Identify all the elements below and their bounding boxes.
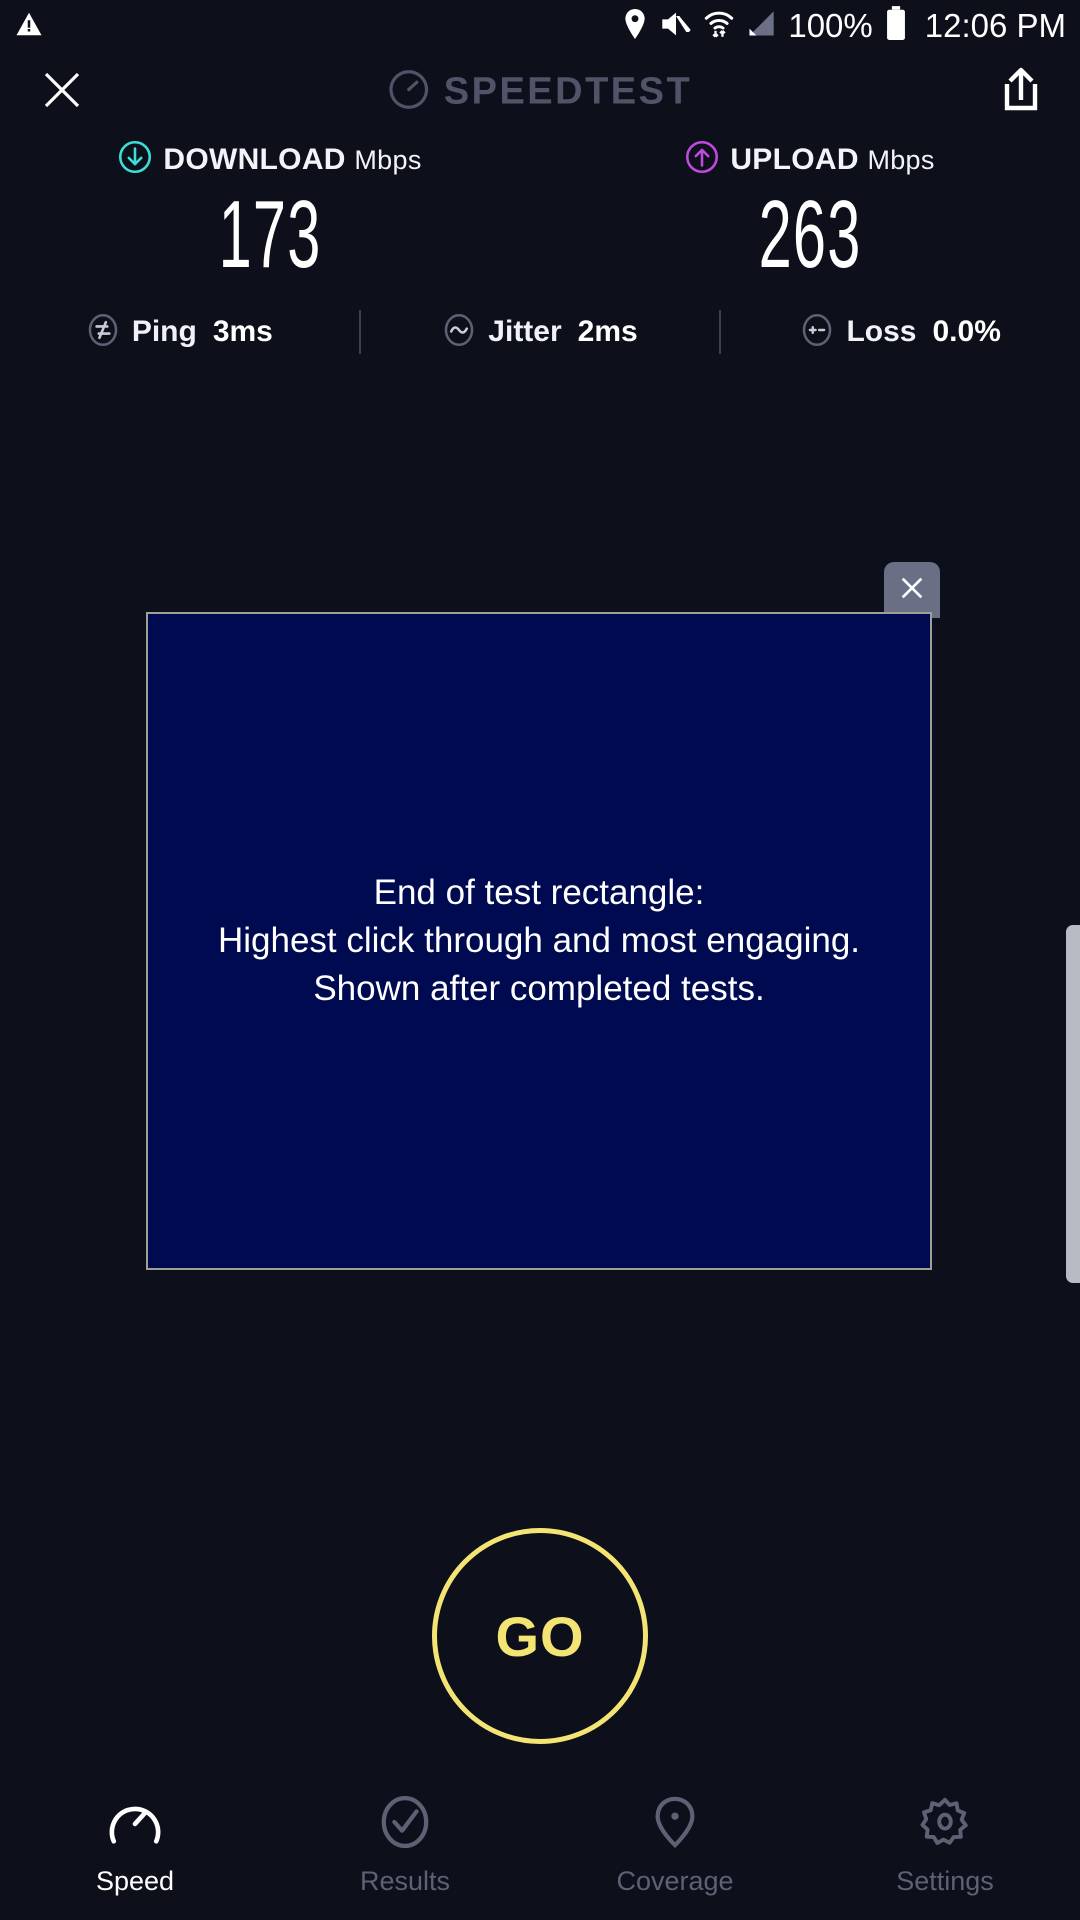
nav-item-settings[interactable]: Settings	[810, 1770, 1080, 1920]
share-button[interactable]	[996, 64, 1046, 120]
advertisement-banner[interactable]: End of test rectangle: Highest click thr…	[146, 612, 932, 1270]
nav-item-speed[interactable]: Speed	[0, 1770, 270, 1920]
ping-icon	[86, 313, 120, 352]
metric-jitter: Jitter 2ms	[361, 313, 720, 352]
app-header: SPEEDTEST	[0, 56, 1080, 128]
battery-full-icon	[885, 6, 907, 47]
speedometer-icon	[108, 1794, 162, 1850]
download-label: DOWNLOAD Mbps	[163, 143, 421, 177]
go-button-label: GO	[495, 1604, 584, 1669]
metrics-row: Ping 3ms Jitter 2ms Loss	[0, 302, 1080, 362]
close-icon	[38, 66, 86, 119]
close-icon	[896, 572, 928, 609]
battery-percent-label: 100%	[788, 7, 872, 45]
nav-label-coverage: Coverage	[616, 1866, 733, 1897]
upload-label: UPLOAD Mbps	[730, 143, 934, 177]
download-result: DOWNLOAD Mbps 173	[0, 140, 540, 283]
nav-item-coverage[interactable]: Coverage	[540, 1770, 810, 1920]
nav-label-settings: Settings	[896, 1866, 994, 1897]
wifi-icon	[704, 9, 734, 44]
location-pin-icon	[622, 9, 648, 44]
status-bar-right: 100% 12:06 PM	[622, 6, 1066, 47]
ad-close-button[interactable]	[884, 562, 940, 618]
brand-logo: SPEEDTEST	[388, 69, 692, 116]
loss-label: Loss	[846, 315, 916, 349]
speedometer-icon	[388, 69, 430, 116]
status-bar-left	[14, 9, 44, 44]
jitter-icon	[442, 313, 476, 352]
loss-icon	[800, 313, 834, 352]
close-button[interactable]	[34, 64, 90, 120]
download-value: 173	[218, 187, 321, 283]
ad-line-3: Shown after completed tests.	[218, 965, 860, 1013]
download-arrow-icon	[118, 140, 152, 179]
jitter-label: Jitter	[488, 315, 561, 349]
share-icon	[999, 66, 1043, 119]
location-pin-icon	[648, 1794, 702, 1850]
jitter-value: 2ms	[578, 315, 638, 349]
ad-text: End of test rectangle: Highest click thr…	[218, 869, 860, 1014]
speedtest-app-screen: 100% 12:06 PM SPEEDTEST	[0, 0, 1080, 1920]
ping-label: Ping	[132, 315, 197, 349]
brand-name: SPEEDTEST	[444, 71, 692, 114]
ping-value: 3ms	[213, 315, 273, 349]
status-bar: 100% 12:06 PM	[0, 0, 1080, 52]
bottom-navigation: Speed Results Coverage	[0, 1770, 1080, 1920]
cellular-signal-icon	[746, 10, 776, 43]
nav-label-results: Results	[360, 1866, 450, 1897]
check-circle-icon	[378, 1794, 432, 1850]
vertical-scrollbar[interactable]	[1066, 925, 1080, 1283]
gear-icon	[918, 1794, 972, 1850]
go-button[interactable]: GO	[432, 1528, 648, 1744]
ad-line-2: Highest click through and most engaging.	[218, 917, 860, 965]
upload-value: 263	[758, 187, 861, 283]
results-section: DOWNLOAD Mbps 173 UPLOAD Mbps 263	[0, 140, 1080, 283]
metric-ping: Ping 3ms	[0, 313, 359, 352]
upload-result: UPLOAD Mbps 263	[540, 140, 1080, 283]
loss-value: 0.0%	[933, 315, 1001, 349]
nav-item-results[interactable]: Results	[270, 1770, 540, 1920]
metric-loss: Loss 0.0%	[721, 313, 1080, 352]
download-label-row: DOWNLOAD Mbps	[118, 140, 421, 179]
nav-label-speed: Speed	[96, 1866, 174, 1897]
mute-icon	[660, 9, 692, 44]
upload-arrow-icon	[685, 140, 719, 179]
upload-label-row: UPLOAD Mbps	[685, 140, 934, 179]
ad-line-1: End of test rectangle:	[218, 869, 860, 917]
clock-label: 12:06 PM	[919, 7, 1066, 45]
warning-triangle-icon	[14, 9, 44, 44]
